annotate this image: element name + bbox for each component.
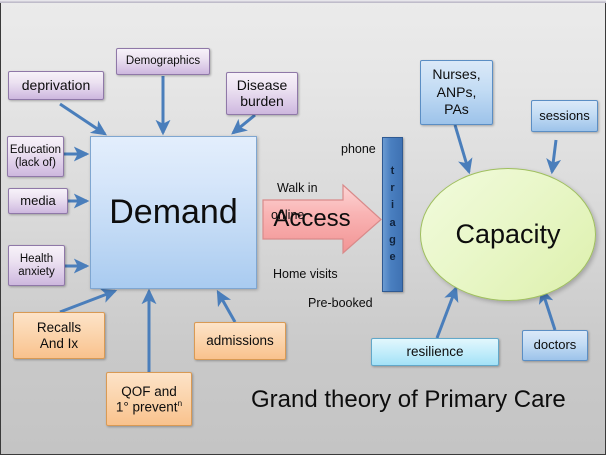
node-doctors[interactable]: doctors [522,330,588,361]
node-education[interactable]: Education (lack of) [7,136,64,177]
triage-letter-g: g [389,232,396,249]
triage-letter-r: r [390,180,394,197]
node-resilience[interactable]: resilience [371,338,499,366]
node-deprivation[interactable]: deprivation [8,71,104,100]
node-sessions[interactable]: sessions [531,100,598,132]
node-media-label: media [20,194,55,209]
triage-letter-a: a [389,215,395,232]
node-recalls-line-1: Recalls [37,320,81,335]
node-nurses-line-3: PAs [444,101,469,119]
node-health-anxiety[interactable]: Health anxiety [8,245,65,286]
capacity-label: Capacity [455,219,560,249]
access-channel-pre-booked: Pre-booked [308,296,373,310]
node-nurses-line-1: Nurses, [432,66,480,84]
node-education-line-2: (lack of) [15,157,56,170]
triage-letter-e: e [389,249,395,266]
node-nurses-line-2: ANPs, [437,84,477,102]
node-disease-burden-line-1: Disease [237,78,288,94]
capacity-ellipse: Capacity [420,168,596,301]
node-nurses-anps-pas[interactable]: Nurses, ANPs, PAs [420,60,493,125]
access-channel-home-visits: Home visits [273,267,338,281]
node-health-anxiety-line-1: Health [20,253,53,266]
node-demographics-label: Demographics [126,55,200,68]
diagram-title: Grand theory of Primary Care [251,386,566,414]
node-sessions-label: sessions [539,109,590,124]
node-media[interactable]: media [8,188,68,214]
node-qof-line-1: QOF and [121,384,177,399]
node-disease-burden-line-2: burden [240,94,284,110]
node-admissions[interactable]: admissions [194,322,286,360]
node-qof-line-2: 1° preventn [116,399,182,415]
node-recalls-and-ix[interactable]: Recalls And Ix [13,312,105,359]
demand-label: Demand [109,193,238,231]
node-education-line-1: Education [10,144,61,157]
node-resilience-label: resilience [406,344,463,359]
access-channel-online: online [271,208,304,222]
triage-letter-i: i [391,197,394,214]
node-health-anxiety-line-2: anxiety [18,266,54,279]
triage-bar: t r i a g e [382,137,403,292]
node-admissions-label: admissions [206,333,274,348]
node-deprivation-label: deprivation [22,78,91,94]
node-qof[interactable]: QOF and 1° preventn [106,372,192,426]
node-recalls-line-2: And Ix [40,336,78,351]
node-qof-line-2-text: 1° prevent [116,399,178,414]
triage-letter-t: t [391,163,395,180]
demand-box: Demand [90,136,257,289]
node-qof-superscript: n [178,398,183,408]
diagram-canvas: Demand Capacity t r i a g e Access Walk … [0,0,606,455]
node-demographics[interactable]: Demographics [116,48,210,75]
node-doctors-label: doctors [534,338,577,353]
access-channel-walk-in: Walk in [277,181,318,195]
access-channel-phone: phone [341,142,376,156]
node-disease-burden[interactable]: Disease burden [226,72,298,115]
